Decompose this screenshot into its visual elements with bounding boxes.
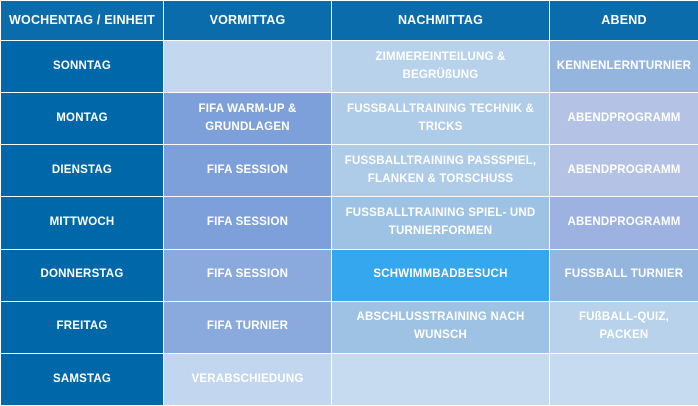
weekly-schedule-table: WOCHENTAG / EINHEIT VORMITTAG NACHMITTAG… xyxy=(0,0,698,406)
day-label-montag: MONTAG xyxy=(1,93,164,145)
cell-sonntag-evening: KENNENLERNTURNIER xyxy=(550,41,698,93)
header-row: WOCHENTAG / EINHEIT VORMITTAG NACHMITTAG… xyxy=(1,1,698,41)
table-row-samstag: SAMSTAG VERABSCHIEDUNG xyxy=(1,353,698,405)
day-label-sonntag: SONNTAG xyxy=(1,41,164,93)
cell-sonntag-morning xyxy=(164,41,332,93)
cell-samstag-morning: VERABSCHIEDUNG xyxy=(164,353,332,405)
cell-dienstag-evening: ABENDPROGRAMM xyxy=(550,145,698,197)
cell-dienstag-afternoon: FUSSBALLTRAINING PASSSPIEL, FLANKEN & TO… xyxy=(332,145,550,197)
day-label-samstag: SAMSTAG xyxy=(1,353,164,405)
column-header-day: WOCHENTAG / EINHEIT xyxy=(1,1,164,41)
day-label-dienstag: DIENSTAG xyxy=(1,145,164,197)
table-row-mittwoch: MITTWOCH FIFA SESSION FUSSBALLTRAINING S… xyxy=(1,197,698,249)
cell-montag-morning: FIFA WARM-UP & GRUNDLAGEN xyxy=(164,93,332,145)
table-row-montag: MONTAG FIFA WARM-UP & GRUNDLAGEN FUSSBAL… xyxy=(1,93,698,145)
table-body: SONNTAG ZIMMEREINTEILUNG & BEGRÜßUNG KEN… xyxy=(1,41,698,406)
cell-dienstag-morning: FIFA SESSION xyxy=(164,145,332,197)
table-header: WOCHENTAG / EINHEIT VORMITTAG NACHMITTAG… xyxy=(1,1,698,41)
day-label-donnerstag: DONNERSTAG xyxy=(1,249,164,301)
column-header-morning: VORMITTAG xyxy=(164,1,332,41)
table-row-donnerstag: DONNERSTAG FIFA SESSION SCHWIMMBADBESUCH… xyxy=(1,249,698,301)
table-row-dienstag: DIENSTAG FIFA SESSION FUSSBALLTRAINING P… xyxy=(1,145,698,197)
cell-montag-afternoon: FUSSBALLTRAINING TECHNIK & TRICKS xyxy=(332,93,550,145)
cell-freitag-afternoon: ABSCHLUSSTRAINING NACH WUNSCH xyxy=(332,301,550,353)
cell-freitag-morning: FIFA TURNIER xyxy=(164,301,332,353)
table-row-sonntag: SONNTAG ZIMMEREINTEILUNG & BEGRÜßUNG KEN… xyxy=(1,41,698,93)
cell-mittwoch-morning: FIFA SESSION xyxy=(164,197,332,249)
cell-mittwoch-evening: ABENDPROGRAMM xyxy=(550,197,698,249)
cell-freitag-evening: FUßBALL-QUIZ, PACKEN xyxy=(550,301,698,353)
cell-mittwoch-afternoon: FUSSBALLTRAINING SPIEL- UND TURNIERFORME… xyxy=(332,197,550,249)
cell-donnerstag-evening: FUSSBALL TURNIER xyxy=(550,249,698,301)
cell-samstag-evening xyxy=(550,353,698,405)
cell-sonntag-afternoon: ZIMMEREINTEILUNG & BEGRÜßUNG xyxy=(332,41,550,93)
column-header-evening: ABEND xyxy=(550,1,698,41)
table-row-freitag: FREITAG FIFA TURNIER ABSCHLUSSTRAINING N… xyxy=(1,301,698,353)
column-header-afternoon: NACHMITTAG xyxy=(332,1,550,41)
cell-samstag-afternoon xyxy=(332,353,550,405)
cell-donnerstag-morning: FIFA SESSION xyxy=(164,249,332,301)
day-label-mittwoch: MITTWOCH xyxy=(1,197,164,249)
cell-donnerstag-afternoon: SCHWIMMBADBESUCH xyxy=(332,249,550,301)
cell-montag-evening: ABENDPROGRAMM xyxy=(550,93,698,145)
day-label-freitag: FREITAG xyxy=(1,301,164,353)
